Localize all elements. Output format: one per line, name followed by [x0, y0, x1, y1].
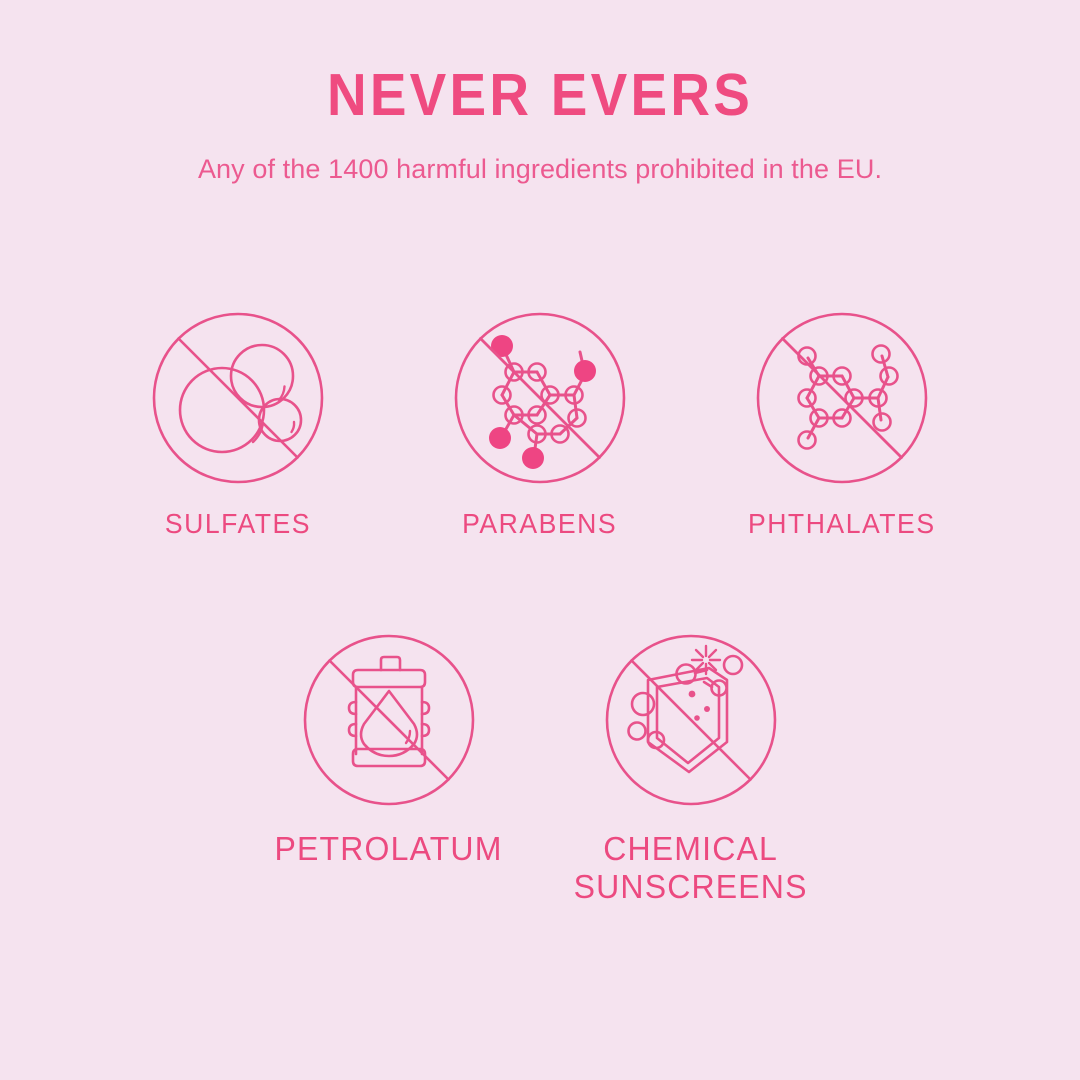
- no-petrolatum-oil-barrel-icon: [301, 632, 477, 808]
- never-evers-infographic: NEVER EVERS Any of the 1400 harmful ingr…: [0, 0, 1080, 1080]
- icon-cell-phthalates: PHTHALATES: [733, 310, 952, 540]
- icon-row-bottom: PETROLATUM: [0, 540, 1080, 907]
- icon-label-sulfates: SULFATES: [165, 508, 311, 540]
- icon-row-top: SULFATES: [0, 310, 1080, 540]
- page-title: NEVER EVERS: [38, 66, 1042, 125]
- page-subtitle: Any of the 1400 harmful ingredients proh…: [0, 125, 1080, 185]
- icon-cell-chemical-sunscreens: CHEMICAL SUNSCREENS: [582, 632, 801, 907]
- no-sulfates-bubbles-icon: [150, 310, 326, 486]
- header: NEVER EVERS Any of the 1400 harmful ingr…: [0, 66, 1080, 185]
- icon-label-chemical-sunscreens: CHEMICAL SUNSCREENS: [574, 830, 808, 907]
- no-chemical-sunscreens-shield-icon: [603, 632, 779, 808]
- icon-cell-sulfates: SULFATES: [129, 310, 348, 540]
- icon-grid: SULFATES: [0, 310, 1080, 907]
- icon-label-petrolatum: PETROLATUM: [275, 830, 503, 868]
- icon-cell-parabens: PARABENS: [431, 310, 650, 540]
- no-phthalates-molecule-icon: [754, 310, 930, 486]
- icon-cell-petrolatum: PETROLATUM: [280, 632, 499, 868]
- icon-label-phthalates: PHTHALATES: [748, 508, 936, 540]
- icon-label-parabens: PARABENS: [462, 508, 617, 540]
- no-parabens-molecule-icon: [452, 310, 628, 486]
